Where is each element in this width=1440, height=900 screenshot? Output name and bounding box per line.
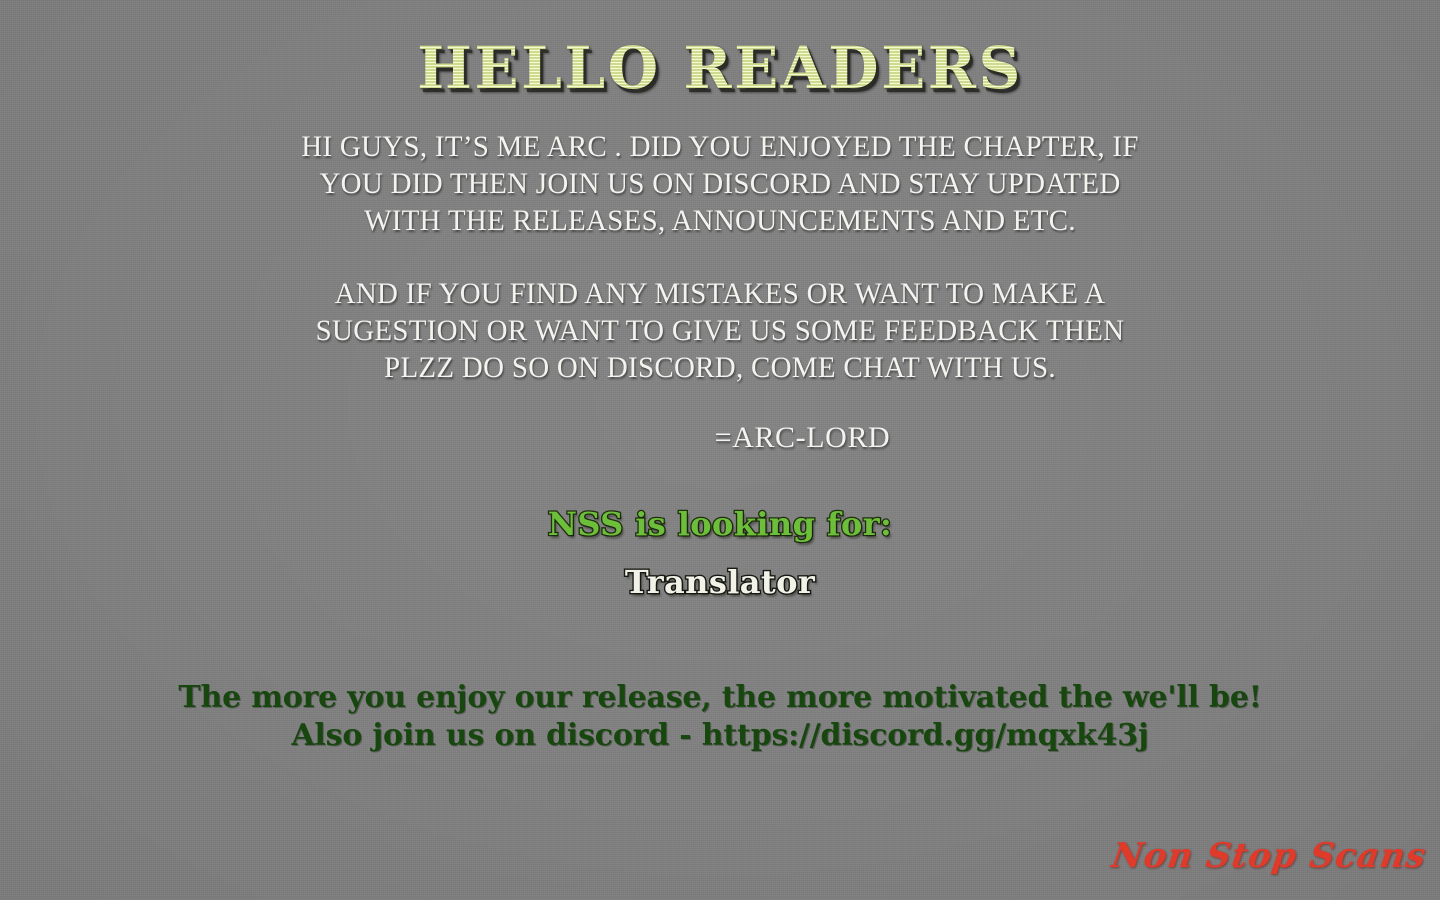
credits-content: HELLO READERS HI GUYS, IT’S ME ARC . DID… xyxy=(0,0,1440,900)
message-line: SUGESTION OR WANT TO GIVE US SOME FEEDBA… xyxy=(238,312,1203,349)
recruitment-heading: NSS is looking for: xyxy=(0,505,1440,543)
recruitment-role: Translator xyxy=(0,563,1440,601)
message-line: YOU DID THEN JOIN US ON DISCORD AND STAY… xyxy=(238,165,1203,202)
message-paragraph-2: AND IF YOU FIND ANY MISTAKES OR WANT TO … xyxy=(238,275,1203,386)
message-block: HI GUYS, IT’S ME ARC . DID YOU ENJOYED T… xyxy=(0,128,1440,386)
message-line: AND IF YOU FIND ANY MISTAKES OR WANT TO … xyxy=(238,275,1203,312)
credits-page: HELLO READERS HI GUYS, IT’S ME ARC . DID… xyxy=(0,0,1440,900)
message-line: WITH THE RELEASES, ANNOUNCEMENTS AND ETC… xyxy=(238,202,1203,239)
page-title-block: HELLO READERS xyxy=(0,38,1440,99)
footer-block: The more you enjoy our release, the more… xyxy=(0,679,1440,755)
footer-line-discord-link[interactable]: Also join us on discord - https://discor… xyxy=(0,717,1440,755)
footer-line-motivation: The more you enjoy our release, the more… xyxy=(0,679,1440,717)
message-paragraph-1: HI GUYS, IT’S ME ARC . DID YOU ENJOYED T… xyxy=(238,128,1203,239)
message-line: PLZZ DO SO ON DISCORD, COME CHAT WITH US… xyxy=(238,349,1203,386)
message-line: HI GUYS, IT’S ME ARC . DID YOU ENJOYED T… xyxy=(238,128,1203,165)
scanlation-group-watermark: Non Stop Scans xyxy=(1109,836,1429,876)
page-title: HELLO READERS xyxy=(417,38,1023,99)
author-signature: =ARC-LORD xyxy=(0,421,1440,455)
